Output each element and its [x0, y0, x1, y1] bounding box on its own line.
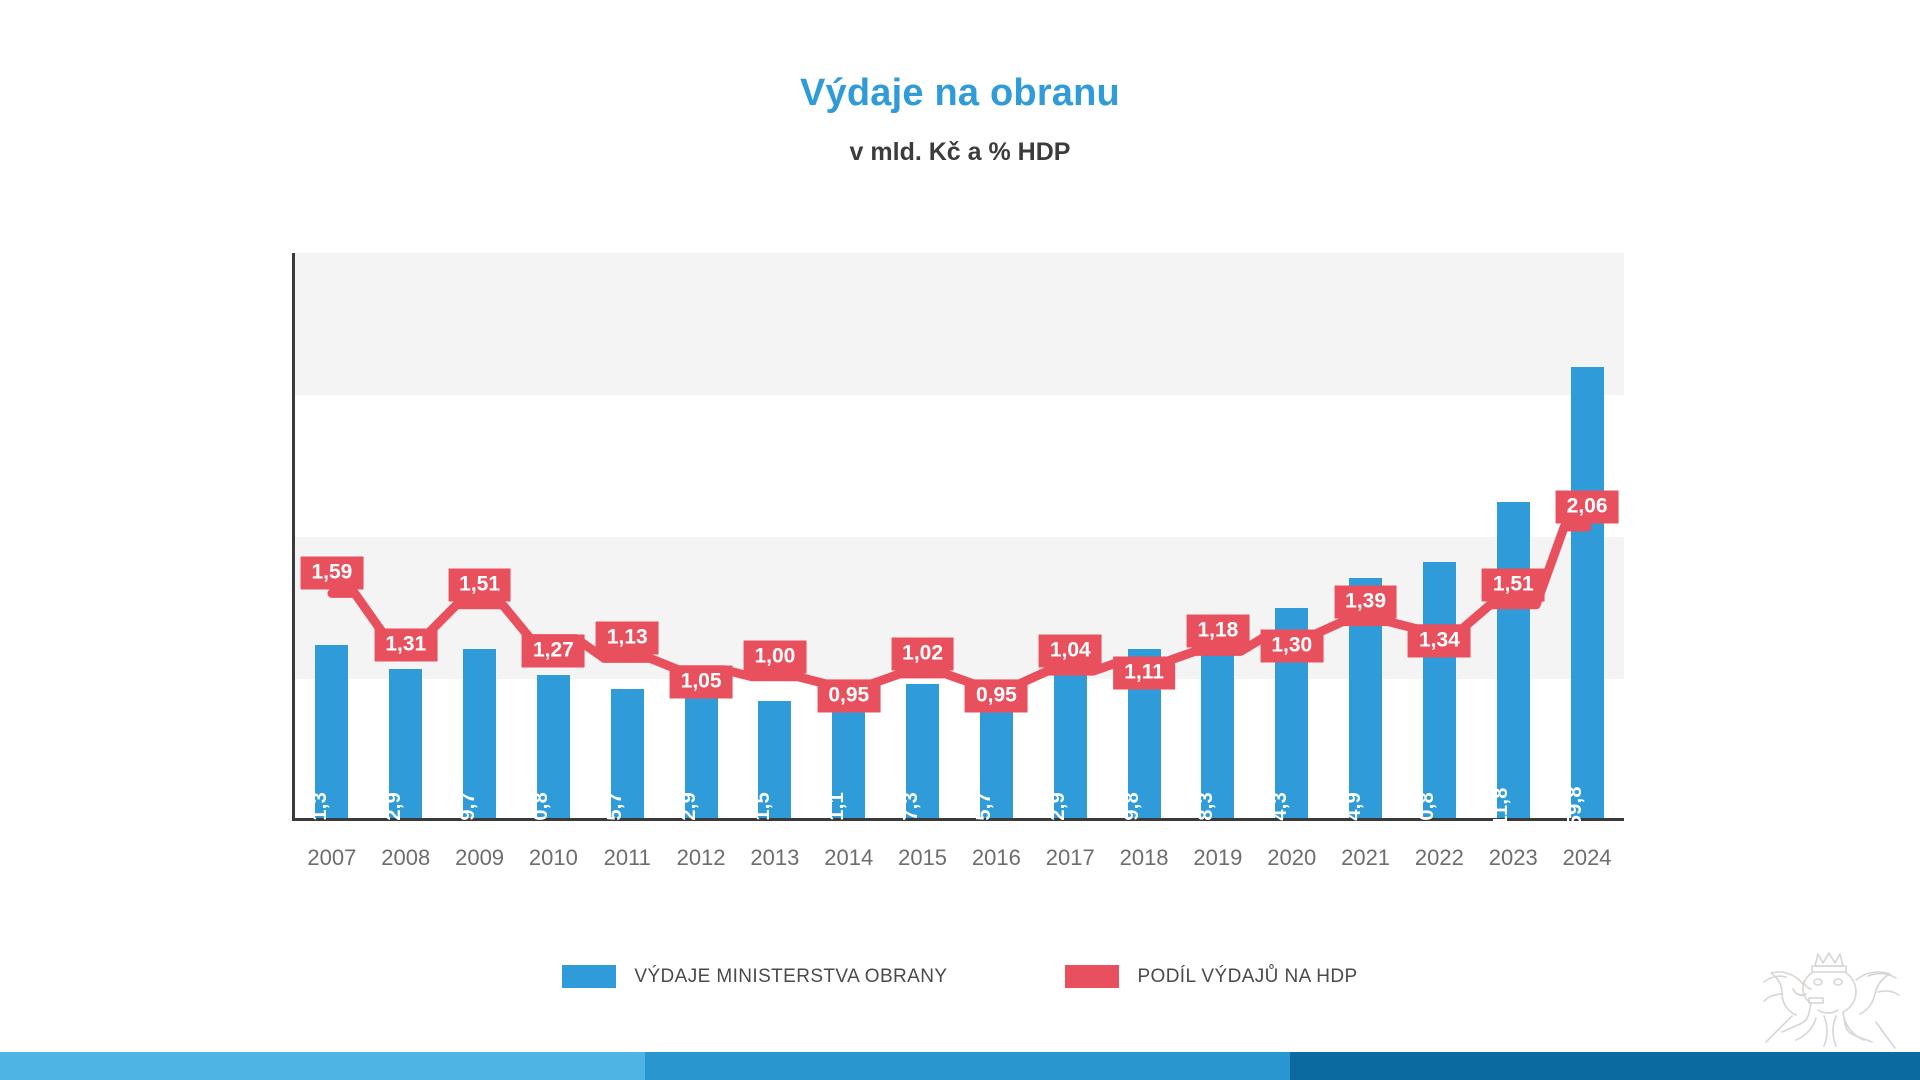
x-tick-2021: 2021 — [1341, 845, 1390, 871]
line-value-label-2008: 1,31 — [374, 628, 437, 661]
line-value-label-2009: 1,51 — [448, 568, 511, 601]
line-value-label-2018: 1,11 — [1113, 657, 1175, 690]
line-value-label-2017: 1,04 — [1039, 635, 1102, 668]
page-title: Výdaje na obranu — [0, 72, 1920, 115]
legend-line[interactable]: PODÍL VÝDAJŮ NA HDP — [1065, 965, 1357, 988]
line-value-label-2016: 0,95 — [965, 679, 1028, 712]
line-value-label-2010: 1,27 — [522, 634, 585, 667]
legend-bars[interactable]: VÝDAJE MINISTERSTVA OBRANY — [562, 965, 947, 988]
x-tick-2008: 2008 — [381, 845, 430, 871]
line-value-label-2019: 1,18 — [1186, 615, 1249, 648]
x-tick-2012: 2012 — [677, 845, 726, 871]
chart-page: Výdaje na obranu v mld. Kč a % HDP 61,35… — [0, 0, 1920, 1080]
line-value-label-2022: 1,34 — [1408, 624, 1471, 657]
x-tick-2011: 2011 — [604, 845, 651, 871]
chart-plot-area: 61,352,959,750,845,742,941,541,147,345,7… — [292, 253, 1624, 821]
line-value-label-2014: 0,95 — [817, 679, 880, 712]
line-value-label-2015: 1,02 — [891, 637, 954, 670]
footer-segment-1 — [0, 1052, 645, 1080]
line-value-label-2013: 1,00 — [743, 640, 806, 673]
x-tick-2020: 2020 — [1267, 845, 1316, 871]
x-tick-2024: 2024 — [1563, 845, 1612, 871]
x-tick-2019: 2019 — [1193, 845, 1242, 871]
page-subtitle: v mld. Kč a % HDP — [0, 138, 1920, 167]
x-tick-2010: 2010 — [529, 845, 578, 871]
x-tick-2023: 2023 — [1489, 845, 1538, 871]
line-value-label-2024: 2,06 — [1556, 491, 1619, 524]
line-value-label-2012: 1,05 — [670, 665, 733, 698]
footer-segment-3 — [1290, 1052, 1920, 1080]
line-value-label-2007: 1,59 — [300, 557, 363, 590]
line-value-label-2023: 1,51 — [1482, 568, 1545, 601]
line-series — [295, 253, 1624, 818]
legend-label: PODÍL VÝDAJŮ NA HDP — [1137, 966, 1357, 988]
footer-segment-2 — [645, 1052, 1290, 1080]
x-tick-2017: 2017 — [1046, 845, 1095, 871]
x-tick-2015: 2015 — [898, 845, 947, 871]
legend-swatch-icon — [1065, 965, 1119, 988]
line-path — [332, 527, 1587, 684]
legend-swatch-icon — [562, 965, 616, 988]
x-tick-2018: 2018 — [1120, 845, 1169, 871]
x-tick-2007: 2007 — [307, 845, 356, 871]
line-value-label-2021: 1,39 — [1334, 585, 1397, 618]
legend-label: VÝDAJE MINISTERSTVA OBRANY — [634, 966, 947, 988]
line-value-label-2020: 1,30 — [1260, 630, 1323, 663]
chart-legend: VÝDAJE MINISTERSTVA OBRANYPODÍL VÝDAJŮ N… — [0, 965, 1920, 988]
czech-lion-emblem-icon — [1756, 932, 1906, 1052]
x-tick-2014: 2014 — [824, 845, 873, 871]
x-tick-2013: 2013 — [750, 845, 799, 871]
x-tick-2016: 2016 — [972, 845, 1021, 871]
x-tick-2022: 2022 — [1415, 845, 1464, 871]
line-value-label-2011: 1,13 — [596, 622, 659, 655]
footer-color-bar — [0, 1052, 1920, 1080]
x-tick-2009: 2009 — [455, 845, 504, 871]
